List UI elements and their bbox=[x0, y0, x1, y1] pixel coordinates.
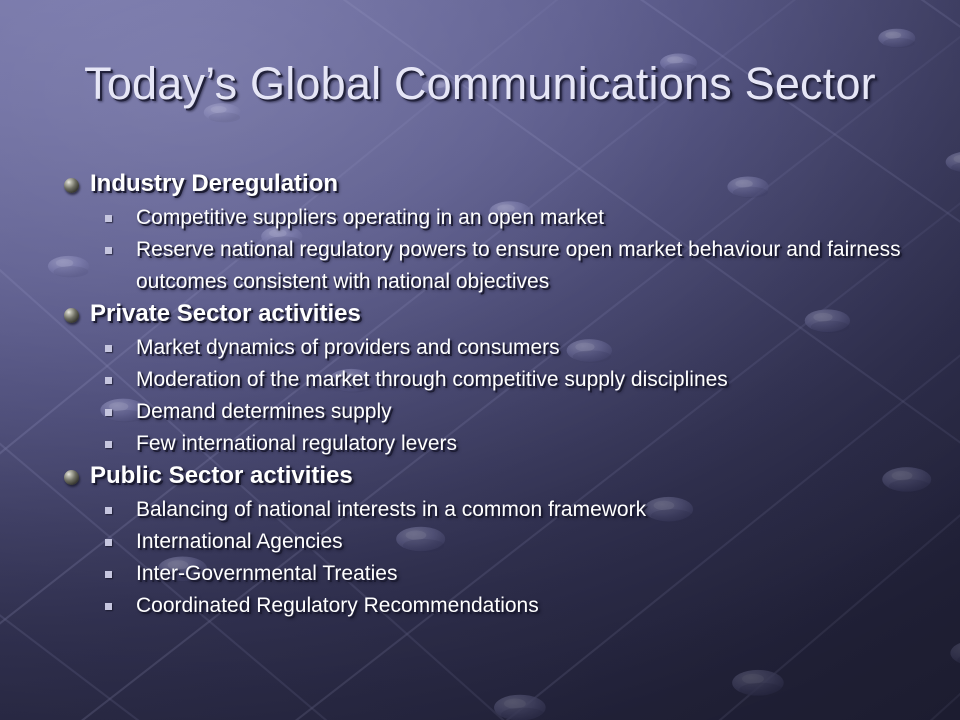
list-item[interactable]: Demand determines supply bbox=[56, 396, 920, 428]
list-item-label: Balancing of national interests in a com… bbox=[136, 494, 920, 526]
section-heading-private-sector-activities[interactable]: Private Sector activities bbox=[56, 298, 920, 330]
square-bullet-icon bbox=[105, 571, 112, 578]
section-heading-public-sector-activities[interactable]: Public Sector activities bbox=[56, 460, 920, 492]
list-item-label: International Agencies bbox=[136, 526, 920, 558]
sphere-bullet-icon bbox=[64, 308, 79, 323]
square-bullet-icon bbox=[105, 409, 112, 416]
list-item[interactable]: Competitive suppliers operating in an op… bbox=[56, 202, 920, 234]
list-item[interactable]: Reserve national regulatory powers to en… bbox=[56, 234, 920, 298]
section-heading-label: Private Sector activities bbox=[90, 300, 361, 327]
list-item-label: Competitive suppliers operating in an op… bbox=[136, 202, 920, 234]
list-item[interactable]: International Agencies bbox=[56, 526, 920, 558]
section-heading-industry-deregulation[interactable]: Industry Deregulation bbox=[56, 168, 920, 200]
list-item[interactable]: Moderation of the market through competi… bbox=[56, 364, 920, 396]
square-bullet-icon bbox=[105, 441, 112, 448]
sphere-bullet-icon bbox=[64, 178, 79, 193]
slide-title: Today’s Global Communications Sector bbox=[0, 58, 960, 110]
list-item[interactable]: Inter-Governmental Treaties bbox=[56, 558, 920, 590]
list-item-label: Moderation of the market through competi… bbox=[136, 364, 920, 396]
list-item-label: Demand determines supply bbox=[136, 396, 920, 428]
square-bullet-icon bbox=[105, 603, 112, 610]
square-bullet-icon bbox=[105, 377, 112, 384]
square-bullet-icon bbox=[105, 247, 112, 254]
list-item-label: Few international regulatory levers bbox=[136, 428, 920, 460]
square-bullet-icon bbox=[105, 539, 112, 546]
sphere-bullet-icon bbox=[64, 470, 79, 485]
list-item[interactable]: Coordinated Regulatory Recommendations bbox=[56, 590, 920, 622]
list-item-label: Reserve national regulatory powers to en… bbox=[136, 234, 920, 298]
list-item[interactable]: Few international regulatory levers bbox=[56, 428, 920, 460]
square-bullet-icon bbox=[105, 215, 112, 222]
section-heading-label: Public Sector activities bbox=[90, 462, 353, 489]
list-item-label: Inter-Governmental Treaties bbox=[136, 558, 920, 590]
list-item-label: Coordinated Regulatory Recommendations bbox=[136, 590, 920, 622]
list-item-label: Market dynamics of providers and consume… bbox=[136, 332, 920, 364]
square-bullet-icon bbox=[105, 345, 112, 352]
square-bullet-icon bbox=[105, 507, 112, 514]
presentation-slide: Today’s Global Communications Sector Ind… bbox=[0, 0, 960, 720]
section-heading-label: Industry Deregulation bbox=[90, 170, 338, 197]
list-item[interactable]: Balancing of national interests in a com… bbox=[56, 494, 920, 526]
slide-body: Industry Deregulation Competitive suppli… bbox=[56, 168, 920, 622]
list-item[interactable]: Market dynamics of providers and consume… bbox=[56, 332, 920, 364]
